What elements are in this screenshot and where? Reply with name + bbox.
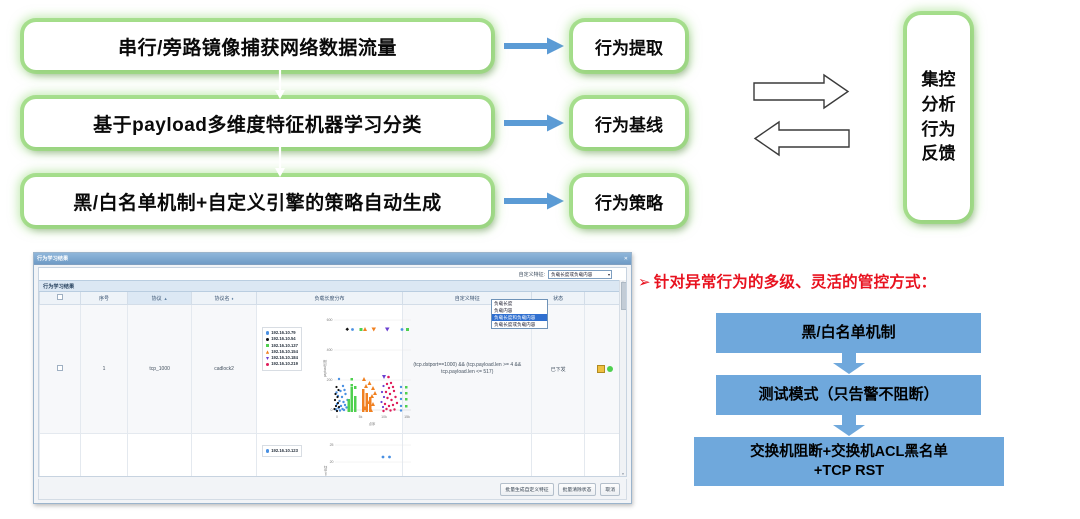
feature-option-3[interactable]: 负载长度或负载内容 — [492, 321, 547, 328]
scatter-chart-2: 192.16.10.123 25 20 15 payload长度 — [259, 436, 401, 477]
flow-output-box-1: 行为提取 — [573, 22, 685, 70]
row-protocol-name — [192, 434, 256, 478]
svg-text:payload长度: payload长度 — [323, 359, 327, 377]
row-custom-feature: (tcp.dstport==102) && ((tcp.payloa — [403, 434, 532, 478]
control-box-3-line-2: +TCP RST — [814, 462, 884, 480]
header-protocol[interactable]: 协议▲ — [127, 292, 191, 305]
control-heading-text: 针对异常行为的多级、灵活的管控方式： — [654, 274, 937, 291]
scatter-chart-1: 192.16.10.79 192.16.10.54 192.16.10.137 … — [259, 307, 401, 431]
row-protocol-name: cadlock2 — [192, 305, 256, 434]
legend-marker — [266, 363, 269, 366]
svg-text:0: 0 — [330, 408, 332, 412]
chart-1-legend: 192.16.10.79 192.16.10.54 192.16.10.137 … — [262, 327, 302, 371]
row-protocol: tcp_1000 — [127, 305, 191, 434]
app-window: 行为学习结果 ✕ 自定义特征: 负载长度或负载内容 ▾ 负载长度 负载内容 负载… — [33, 252, 632, 504]
svg-text:200: 200 — [326, 378, 332, 382]
select-all-checkbox[interactable] — [57, 294, 63, 300]
vertical-scrollbar[interactable]: ▲ ▼ — [619, 280, 626, 476]
legend-marker — [266, 331, 269, 334]
batch-clear-status-button[interactable]: 批量清除状态 — [558, 483, 597, 496]
batch-generate-feature-button[interactable]: 批量生成自定义特征 — [500, 483, 553, 496]
sort-asc-icon: ▲ — [164, 296, 168, 301]
row-checkbox[interactable] — [57, 365, 63, 371]
bullet-icon: ➢ — [638, 274, 651, 291]
outline-arrow-right — [752, 73, 851, 111]
legend-marker — [266, 449, 269, 452]
control-down-arrow-2 — [831, 415, 867, 437]
svg-text:600: 600 — [326, 318, 332, 322]
legend-marker — [266, 338, 269, 341]
central-box-line-3: 行为 — [922, 118, 956, 143]
central-box-line-1: 集控 — [922, 68, 956, 93]
flow-step-box-3: 黑/白名单机制+自定义引擎的策略自动生成 — [24, 177, 491, 225]
feature-select[interactable]: 负载长度或负载内容 ▾ — [548, 270, 612, 279]
central-box-line-2: 分析 — [922, 93, 956, 118]
outline-arrow-left — [752, 120, 851, 158]
legend-marker — [266, 357, 269, 360]
blue-arrow-1 — [504, 33, 566, 59]
connector-arrow-1-2 — [272, 70, 288, 100]
sort-icon: ♦ — [232, 296, 234, 301]
control-down-arrow-1 — [831, 353, 867, 375]
chevron-down-icon: ▾ — [608, 271, 610, 278]
blue-arrow-3 — [504, 188, 566, 214]
row-index — [81, 434, 128, 478]
svg-text:25: 25 — [329, 443, 333, 447]
connector-arrow-2-3 — [272, 147, 288, 178]
central-box-line-4: 反馈 — [922, 142, 956, 167]
header-index[interactable]: 序号 — [81, 292, 128, 305]
svg-text:5k: 5k — [358, 415, 362, 419]
header-select-all[interactable] — [40, 292, 81, 305]
legend-marker — [266, 350, 269, 353]
svg-text:点序: 点序 — [369, 421, 376, 426]
flow-output-box-2: 行为基线 — [573, 99, 685, 147]
blue-arrow-2 — [504, 110, 566, 136]
deploy-icon[interactable] — [607, 366, 613, 372]
chart-1-plot: 600 400 200 0 payload长度 0 5k 10k 15k — [323, 311, 411, 429]
header-payload-distribution[interactable]: 负载长度分布 — [256, 292, 403, 305]
grid-title: 行为学习结果 — [39, 280, 626, 292]
svg-text:400: 400 — [326, 348, 332, 352]
scrollbar-thumb[interactable] — [621, 282, 627, 310]
svg-text:payload长度: payload长度 — [323, 465, 328, 477]
header-protocol-name-label: 协议名 — [215, 296, 230, 302]
flow-output-box-3: 行为策略 — [573, 177, 685, 225]
window-footer: 批量生成自定义特征 批量清除状态 取消 — [38, 479, 627, 500]
table-row[interactable]: 192.16.10.123 25 20 15 payload长度 — [40, 434, 626, 478]
row-protocol — [127, 434, 191, 478]
legend-item: 192.16.10.219 — [266, 361, 298, 367]
header-protocol-label: 协议 — [152, 296, 162, 302]
svg-text:0: 0 — [336, 415, 338, 419]
feature-toolbar: 自定义特征: 负载长度或负载内容 ▾ — [39, 268, 626, 280]
feature-option-1[interactable]: 负载内容 — [492, 307, 547, 314]
edit-icon[interactable] — [597, 365, 605, 373]
control-box-3-line-1: 交换机阻断+交换机ACL黑名单 — [750, 443, 948, 461]
legend-label: 192.16.10.123 — [271, 448, 298, 454]
row-status — [532, 434, 585, 478]
control-heading: ➢针对异常行为的多级、灵活的管控方式： — [638, 270, 936, 292]
scroll-down-icon[interactable]: ▼ — [621, 472, 625, 476]
row-index: 1 — [81, 305, 128, 434]
chart-2-legend: 192.16.10.123 — [262, 445, 302, 457]
slide-root: 串行/旁路镜像捕获网络数据流量 基于payload多维度特征机器学习分类 黑/白… — [0, 0, 1080, 519]
window-title: 行为学习结果 — [37, 255, 68, 262]
feature-label: 自定义特征: — [519, 271, 545, 278]
central-analysis-box: 集控 分析 行为 反馈 — [907, 15, 970, 220]
row-checkbox-cell[interactable] — [40, 434, 81, 478]
control-box-3: 交换机阻断+交换机ACL黑名单 +TCP RST — [694, 437, 1004, 486]
feature-option-2[interactable]: 负载长度和负载内容 — [492, 314, 547, 321]
close-icon[interactable]: ✕ — [624, 256, 628, 262]
row-chart-cell: 192.16.10.79 192.16.10.54 192.16.10.137 … — [256, 305, 403, 434]
control-box-1: 黑/白名单机制 — [716, 313, 981, 353]
svg-text:20: 20 — [329, 460, 333, 464]
control-box-2: 测试模式（只告警不阻断） — [716, 375, 981, 415]
flow-step-box-1: 串行/旁路镜像捕获网络数据流量 — [24, 22, 491, 70]
cancel-button[interactable]: 取消 — [600, 483, 620, 496]
legend-label: 192.16.10.219 — [271, 361, 298, 367]
feature-dropdown-list[interactable]: 负载长度 负载内容 负载长度和负载内容 负载长度或负载内容 — [491, 299, 548, 329]
legend-marker — [266, 344, 269, 347]
window-title-bar: 行为学习结果 ✕ — [34, 253, 631, 265]
svg-text:15k: 15k — [404, 415, 410, 419]
legend-item: 192.16.10.123 — [266, 448, 298, 454]
row-chart-cell: 192.16.10.123 25 20 15 payload长度 — [256, 434, 403, 478]
chart-2-plot: 25 20 15 payload长度 — [323, 438, 411, 477]
flow-step-box-2: 基于payload多维度特征机器学习分类 — [24, 99, 491, 147]
feature-option-0[interactable]: 负载长度 — [492, 300, 547, 307]
row-checkbox-cell[interactable] — [40, 305, 81, 434]
header-protocol-name[interactable]: 协议名♦ — [192, 292, 256, 305]
window-body: 自定义特征: 负载长度或负载内容 ▾ 负载长度 负载内容 负载长度和负载内容 负… — [38, 267, 627, 477]
svg-text:10k: 10k — [381, 415, 387, 419]
feature-select-value: 负载长度或负载内容 — [551, 272, 592, 277]
